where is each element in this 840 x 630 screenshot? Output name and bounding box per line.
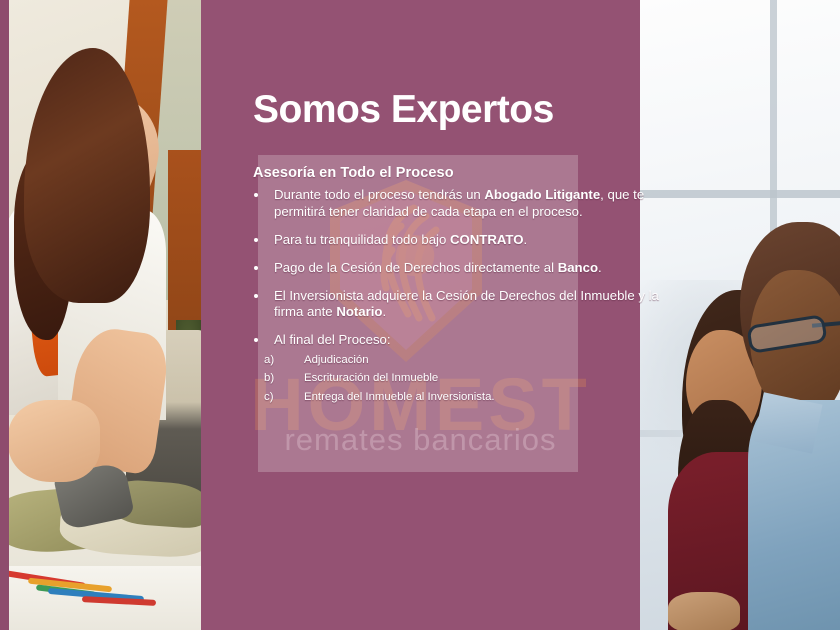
bullet-item: El Inversionista adquiere la Cesión de D… [248,288,660,322]
bullet-text: El Inversionista adquiere la Cesión de D… [274,288,659,320]
left-photo-purple-edge [0,0,9,630]
page-title: Somos Expertos [253,90,633,131]
left-photo-hand [8,400,100,482]
bullet-text: . [598,260,602,275]
photo-left [0,0,201,630]
sub-list-item: b)Escrituración del Inmueble [248,371,660,385]
sub-list-marker: a) [264,353,294,367]
bullet-text: Para tu tranquilidad todo bajo [274,232,450,247]
bullet-text: . [382,304,386,319]
presentation-slide: HOMEST remates bancarios Somos Expertos … [0,0,840,630]
photo-right [640,0,840,630]
bullet-text: Durante todo el proceso tendrás un [274,187,484,202]
bullet-emphasis: CONTRATO [450,232,524,247]
content-panel: HOMEST remates bancarios Somos Expertos … [201,0,640,630]
sub-list-marker: b) [264,371,294,385]
bullet-item: Para tu tranquilidad todo bajo CONTRATO. [248,232,660,249]
sub-list-item: c)Entrega del Inmueble al Inversionista. [248,390,660,404]
bullet-text: Pago de la Cesión de Derechos directamen… [274,260,558,275]
bullet-emphasis: Abogado Litigante [484,187,600,202]
right-photo-woman-hands [668,592,740,630]
sub-list-text: Escrituración del Inmueble [304,372,438,384]
sub-list-item: a)Adjudicación [248,353,660,367]
sub-list: a)Adjudicaciónb)Escrituración del Inmueb… [248,353,660,404]
bullet-list: Durante todo el proceso tendrás un Aboga… [248,187,660,349]
bullet-item: Pago de la Cesión de Derechos directamen… [248,260,660,277]
sub-list-text: Adjudicación [304,354,369,366]
bullet-item: Durante todo el proceso tendrás un Aboga… [248,187,660,221]
bullet-emphasis: Notario [336,304,382,319]
sub-list-text: Entrega del Inmueble al Inversionista. [304,391,495,403]
content-body: Asesoría en Todo el Proceso Durante todo… [248,165,660,408]
bullet-text: Al final del Proceso: [274,332,391,347]
sub-list-marker: c) [264,390,294,404]
bullet-item: Al final del Proceso: [248,332,660,349]
section-subtitle: Asesoría en Todo el Proceso [253,165,660,181]
bullet-text: . [523,232,527,247]
bullet-emphasis: Banco [558,260,598,275]
right-photo-mullion-horizontal [640,190,840,198]
